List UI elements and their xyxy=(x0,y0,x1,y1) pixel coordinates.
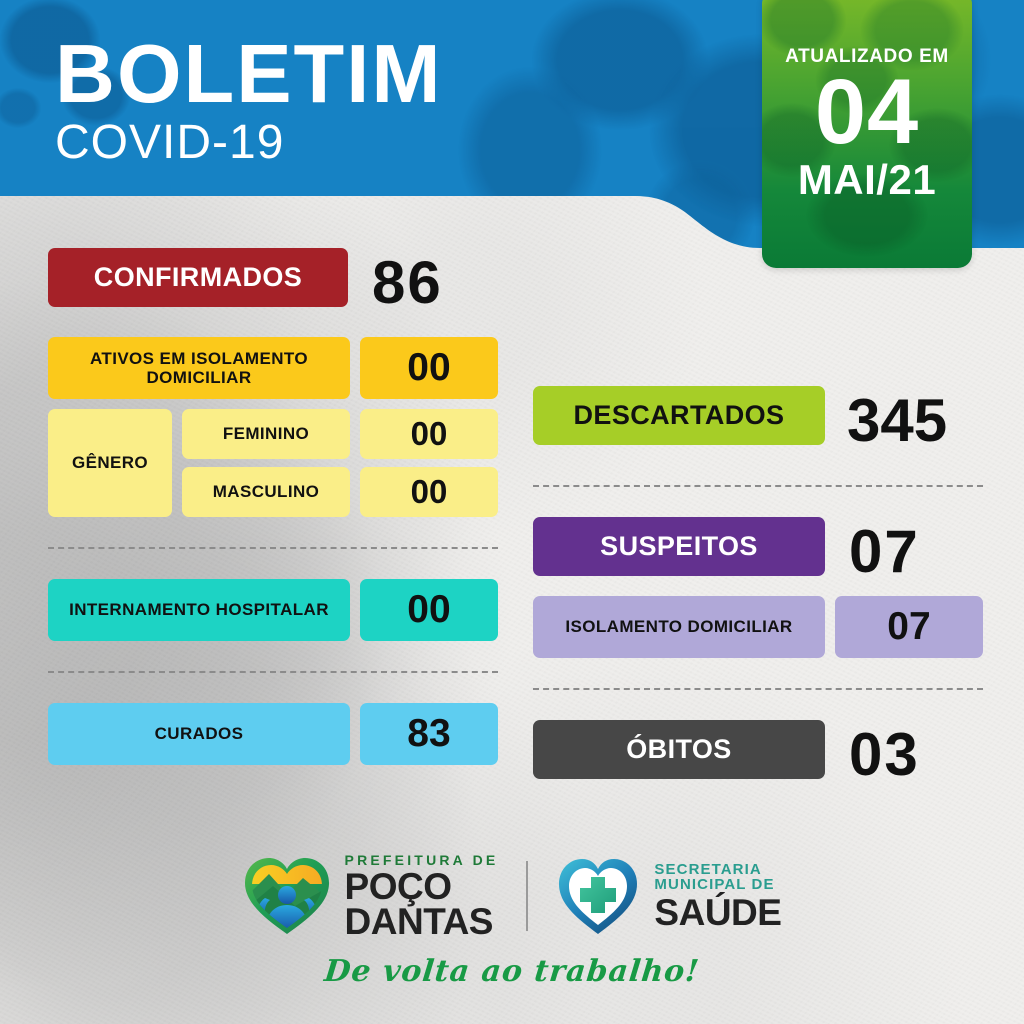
descartados-label: DESCARTADOS xyxy=(574,400,785,430)
prefeitura-eyebrow: PREFEITURA DE xyxy=(345,853,499,867)
secretaria-saude-logo: SECRETARIA MUNICIPAL DE SAÚDE xyxy=(556,855,781,937)
curados-label-pill: CURADOS xyxy=(48,703,350,765)
suspeitos-label: SUSPEITOS xyxy=(600,531,758,561)
suspeitos-label-pill: SUSPEITOS xyxy=(533,517,825,576)
header-titles: BOLETIM COVID-19 xyxy=(55,34,442,168)
descartados-label-pill: DESCARTADOS xyxy=(533,386,825,445)
stat-row-suspeitos: SUSPEITOS 07 xyxy=(533,517,983,586)
suspeitos-isolamento-label: ISOLAMENTO DOMICILIAR xyxy=(565,617,792,636)
secretaria-line1: SECRETARIA xyxy=(654,862,781,877)
left-stats-column: CONFIRMADOS 86 ATIVOS EM ISOLAMENTO DOMI… xyxy=(48,248,498,765)
date-badge-month: MAI/21 xyxy=(798,156,936,204)
page-title: BOLETIM xyxy=(55,34,442,114)
confirmados-label-pill: CONFIRMADOS xyxy=(48,248,348,307)
internamento-value: 00 xyxy=(360,579,498,641)
divider-right-2 xyxy=(533,688,983,690)
footer-divider xyxy=(526,861,528,931)
heart-cross-icon xyxy=(556,855,640,937)
internamento-label: INTERNAMENTO HOSPITALAR xyxy=(69,600,329,619)
confirmados-value: 86 xyxy=(348,248,443,317)
genero-masculino-value: 00 xyxy=(360,467,498,517)
suspeitos-isolamento-value: 07 xyxy=(835,596,983,658)
stat-row-internamento: INTERNAMENTO HOSPITALAR 00 xyxy=(48,579,498,641)
divider-left-2 xyxy=(48,671,498,673)
stat-row-ativos: ATIVOS EM ISOLAMENTO DOMICILIAR 00 xyxy=(48,337,498,399)
stat-row-confirmados: CONFIRMADOS 86 xyxy=(48,248,498,317)
stat-row-genero: GÊNERO FEMININO 00 MASCULINO 00 xyxy=(48,409,498,517)
obitos-label-pill: ÓBITOS xyxy=(533,720,825,779)
stat-row-obitos: ÓBITOS 03 xyxy=(533,720,983,789)
stat-row-descartados: DESCARTADOS 345 xyxy=(533,386,983,455)
secretaria-name: SAÚDE xyxy=(654,894,781,931)
genero-row-masculino: MASCULINO 00 xyxy=(182,467,498,517)
obitos-label: ÓBITOS xyxy=(626,734,731,764)
stat-row-curados: CURADOS 83 xyxy=(48,703,498,765)
obitos-value: 03 xyxy=(825,720,920,789)
right-stats-column: DESCARTADOS 345 SUSPEITOS 07 ISOLAMENTO … xyxy=(533,386,983,789)
footer: PREFEITURA DE POÇO DANTAS xyxy=(0,840,1024,1024)
prefeitura-name-line1: POÇO xyxy=(345,870,499,904)
confirmados-label: CONFIRMADOS xyxy=(94,262,302,292)
genero-feminino-value: 00 xyxy=(360,409,498,459)
prefeitura-logo: PREFEITURA DE POÇO DANTAS xyxy=(243,853,499,938)
date-badge: ATUALIZADO EM 04 MAI/21 xyxy=(762,0,972,268)
secretaria-line2: MUNICIPAL DE xyxy=(654,877,781,892)
date-badge-day: 04 xyxy=(815,66,919,160)
ativos-label-pill: ATIVOS EM ISOLAMENTO DOMICILIAR xyxy=(48,337,350,399)
divider-right-1 xyxy=(533,485,983,487)
descartados-value: 345 xyxy=(825,386,947,455)
genero-label: GÊNERO xyxy=(48,409,172,517)
suspeitos-isolamento-label-pill: ISOLAMENTO DOMICILIAR xyxy=(533,596,825,658)
suspeitos-value: 07 xyxy=(825,517,920,586)
heart-prefeitura-icon xyxy=(243,854,331,938)
genero-feminino-label: FEMININO xyxy=(182,409,350,459)
footer-tagline: De volta ao trabalho! xyxy=(0,954,1024,989)
ativos-value: 00 xyxy=(360,337,498,399)
genero-row-feminino: FEMININO 00 xyxy=(182,409,498,459)
genero-masculino-label: MASCULINO xyxy=(182,467,350,517)
prefeitura-name-line2: DANTAS xyxy=(345,905,499,939)
internamento-label-pill: INTERNAMENTO HOSPITALAR xyxy=(48,579,350,641)
ativos-label: ATIVOS EM ISOLAMENTO DOMICILIAR xyxy=(62,349,336,387)
curados-label: CURADOS xyxy=(155,724,244,743)
curados-value: 83 xyxy=(360,703,498,765)
page-subtitle: COVID-19 xyxy=(55,118,442,168)
divider-left-1 xyxy=(48,547,498,549)
stat-row-suspeitos-isolamento: ISOLAMENTO DOMICILIAR 07 xyxy=(533,596,983,658)
